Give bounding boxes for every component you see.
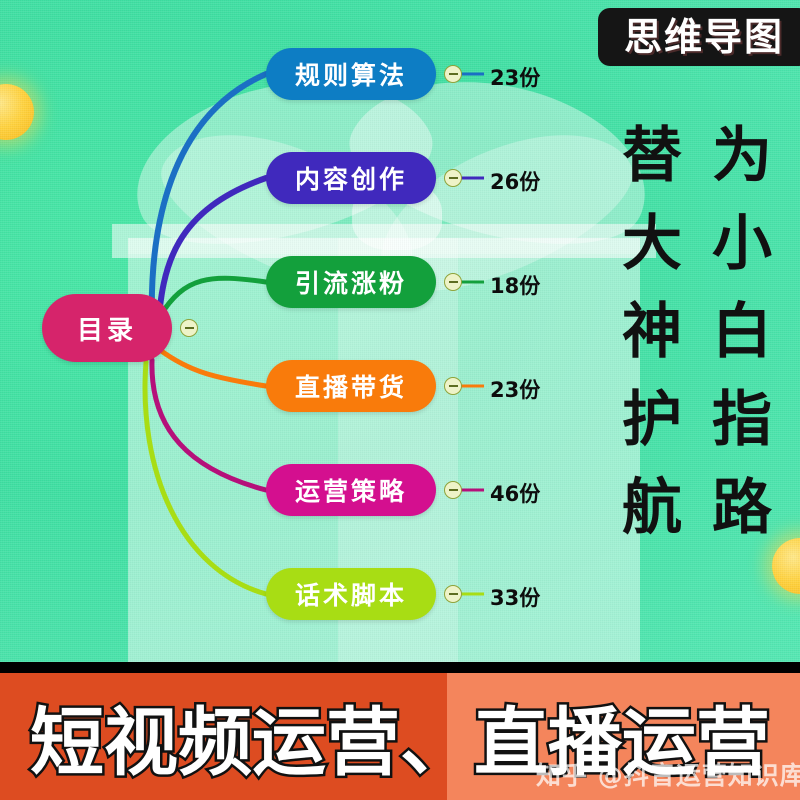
minus-glyph [449,385,458,387]
mindmap-node-label: 运营策略 [295,472,407,508]
slogan-char: 路 [702,464,782,552]
watermark: 知乎 @抖音运营知识库 [536,756,800,792]
mindmap-node-label: 引流涨粉 [295,264,407,300]
mindmap-node-count: 23份 [490,62,540,92]
slogan-char: 替 [612,112,692,200]
collapse-minus-icon[interactable] [444,169,462,187]
slogan-char: 航 [612,464,692,552]
collapse-minus-icon[interactable] [180,319,198,337]
slogan-column-left: 替 大 神 护 航 [612,112,692,552]
slogan-char: 白 [702,288,782,376]
collapse-minus-icon[interactable] [444,481,462,499]
collapse-minus-icon[interactable] [444,273,462,291]
mindmap-node-label: 直播带货 [295,368,407,404]
mindmap-node-count: 46份 [490,478,540,508]
mindmap-root-label: 目录 [77,310,137,347]
slogan-char: 护 [612,376,692,464]
mindmap-root-node[interactable]: 目录 [42,294,172,362]
slogan-char: 大 [612,200,692,288]
minus-glyph [449,593,458,595]
collapse-minus-icon[interactable] [444,65,462,83]
slogan-char: 小 [702,200,782,288]
minus-glyph [449,489,458,491]
collapse-minus-icon[interactable] [444,585,462,603]
minus-glyph [449,281,458,283]
mindmap-node-label: 规则算法 [295,56,407,92]
minus-glyph [185,327,194,329]
title-badge-label: 思维导图 [624,18,784,56]
mindmap-node-yunyingcelue[interactable]: 运营策略 [266,464,436,516]
slogan-char: 神 [612,288,692,376]
mindmap-node-label: 内容创作 [295,160,407,196]
slogan-column-right: 为 小 白 指 路 [702,112,782,552]
collapse-minus-icon[interactable] [444,377,462,395]
mindmap-node-count: 18份 [490,270,540,300]
banner-divider [0,662,800,673]
mindmap-node-guizesuanfa[interactable]: 规则算法 [266,48,436,100]
minus-glyph [449,73,458,75]
poster-canvas: 目录 规则算法 23份 内容创作 26份 引流涨粉 18份 直播带货 23份 运… [0,0,800,800]
mindmap-node-huashujiaoben[interactable]: 话术脚本 [266,568,436,620]
title-badge: 思维导图 [598,8,800,66]
mindmap-node-count: 23份 [490,374,540,404]
mindmap-node-count: 33份 [490,582,540,612]
mindmap-node-label: 话术脚本 [295,576,407,612]
mindmap-node-zhibodaihuo[interactable]: 直播带货 [266,360,436,412]
slogan-char: 为 [702,112,782,200]
mindmap-node-count: 26份 [490,166,540,196]
minus-glyph [449,177,458,179]
mindmap-node-neirongchuangzuo[interactable]: 内容创作 [266,152,436,204]
slogan-char: 指 [702,376,782,464]
mindmap-node-yinliuzhangfen[interactable]: 引流涨粉 [266,256,436,308]
